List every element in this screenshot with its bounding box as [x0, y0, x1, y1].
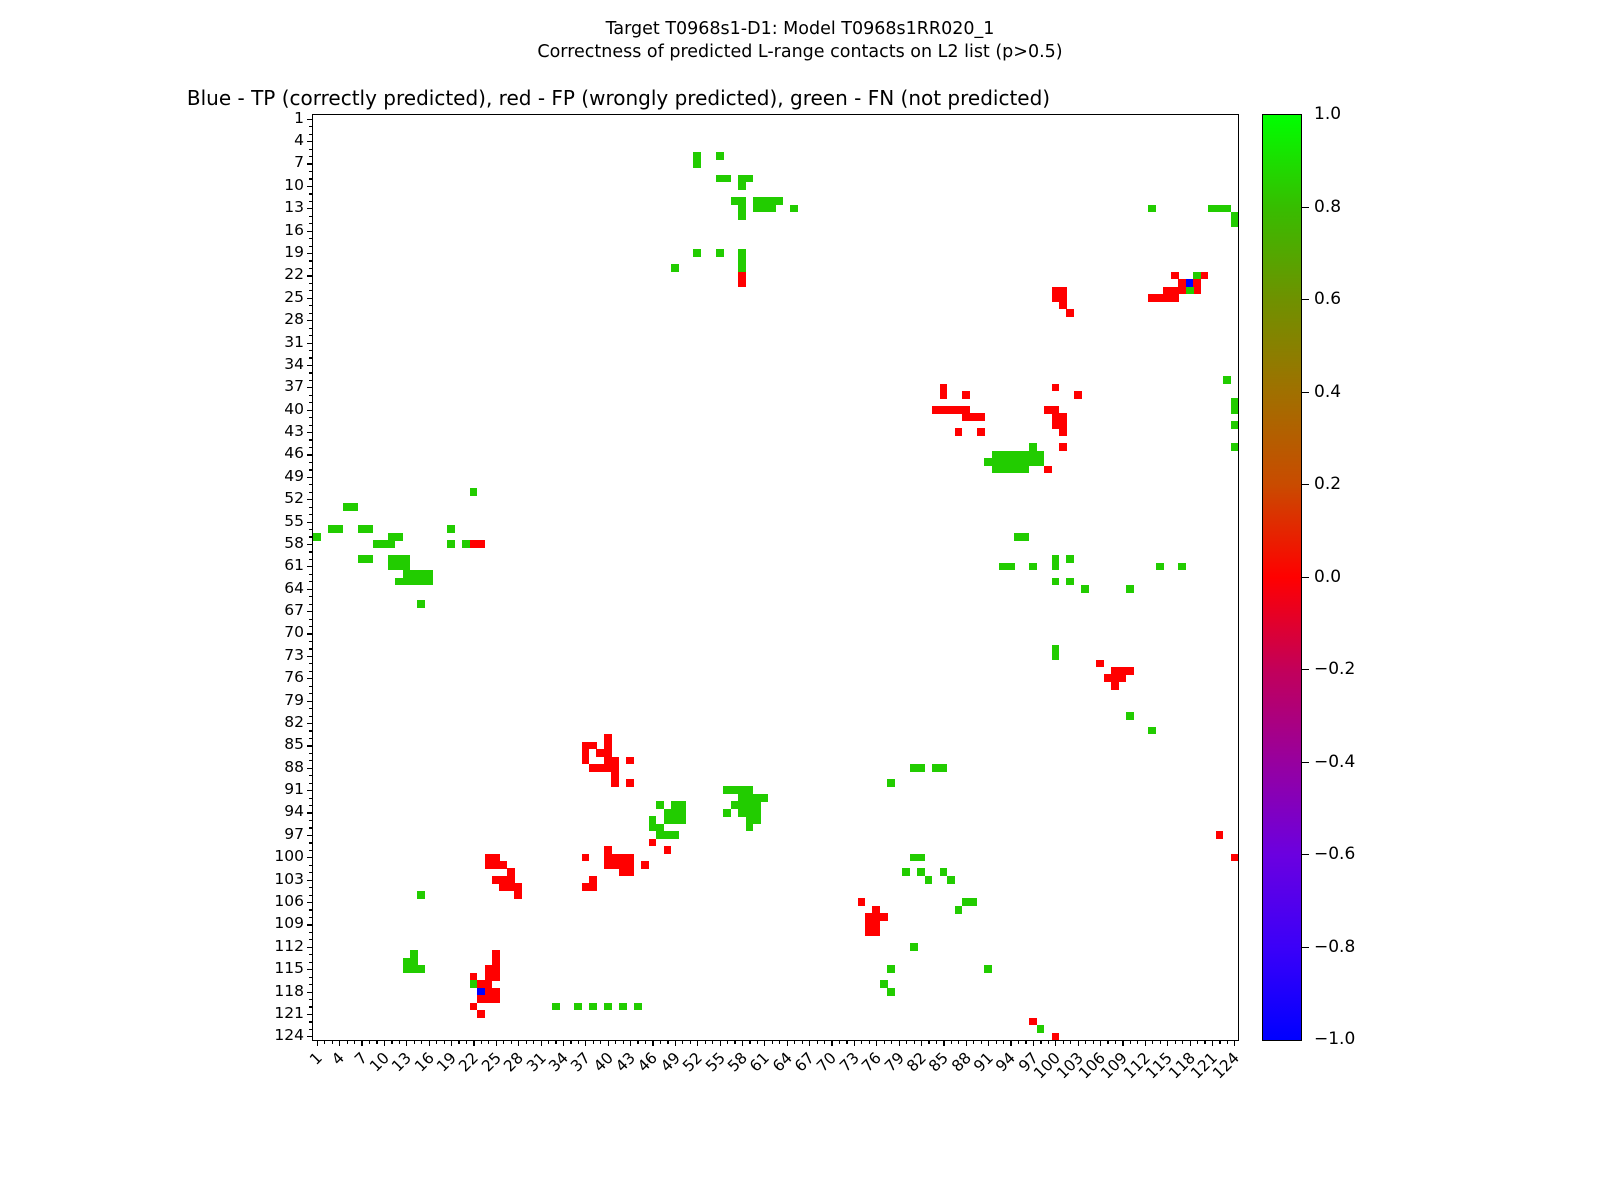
y-axis-tick-minor: [309, 417, 313, 418]
contact-cell: [716, 249, 724, 257]
y-axis-tick-label: 28: [284, 310, 304, 328]
contact-cell: [969, 898, 977, 906]
y-axis-tick-major: [307, 163, 313, 164]
y-axis-tick-label: 64: [284, 579, 304, 597]
contact-cell: [977, 428, 985, 436]
contact-cell: [1231, 219, 1239, 227]
y-axis-tick-major: [307, 343, 313, 344]
x-axis-tick-minor: [914, 1040, 915, 1044]
y-axis-tick-label: 40: [284, 400, 304, 418]
x-axis-tick-minor: [906, 1040, 907, 1044]
contact-cell: [492, 973, 500, 981]
y-axis-tick-major: [307, 924, 313, 925]
contact-cell: [1186, 287, 1194, 295]
x-axis-tick-minor: [623, 1040, 624, 1044]
y-axis-tick-minor: [309, 581, 313, 582]
y-axis-tick-minor: [309, 887, 313, 888]
contact-cell: [1059, 428, 1067, 436]
y-axis-tick-label: 124: [274, 1026, 304, 1044]
y-axis-tick-minor: [309, 909, 313, 910]
y-axis-tick-minor: [309, 193, 313, 194]
y-axis-tick-label: 16: [284, 221, 304, 239]
contact-cell: [977, 413, 985, 421]
y-axis-tick-major: [307, 790, 313, 791]
y-axis-tick-label: 31: [284, 333, 304, 351]
x-axis-tick-minor: [458, 1040, 459, 1044]
y-axis-tick-major: [307, 1036, 313, 1037]
contact-map-plot-area[interactable]: [312, 114, 1239, 1041]
y-axis-tick-minor: [309, 730, 313, 731]
x-axis-tick-minor: [555, 1040, 556, 1044]
contact-cell: [1193, 272, 1201, 280]
y-axis-tick-minor: [309, 238, 313, 239]
title-line-1: Target T0968s1-D1: Model T0968s1RR020_1: [0, 18, 1600, 41]
contact-cell: [693, 160, 701, 168]
y-axis-tick-label: 13: [284, 198, 304, 216]
y-axis-tick-minor: [309, 708, 313, 709]
x-axis-tick-minor: [1063, 1040, 1064, 1044]
x-axis-tick-minor: [936, 1040, 937, 1044]
contact-cell: [1126, 585, 1134, 593]
y-axis-tick-minor: [309, 865, 313, 866]
contact-cell: [649, 839, 657, 847]
y-axis-tick-minor: [309, 328, 313, 329]
y-axis-tick-minor: [309, 149, 313, 150]
y-axis-tick-label: 61: [284, 556, 304, 574]
y-axis-tick-label: 103: [274, 870, 304, 888]
contact-cell: [1223, 376, 1231, 384]
y-axis-tick-major: [307, 678, 313, 679]
y-axis-tick-major: [307, 633, 313, 634]
x-axis-tick-minor: [645, 1040, 646, 1044]
x-axis-tick-minor: [369, 1040, 370, 1044]
y-axis-tick-minor: [309, 559, 313, 560]
contact-cell: [1231, 406, 1239, 414]
contact-cell: [1178, 563, 1186, 571]
x-axis-tick-minor: [511, 1040, 512, 1044]
y-axis-tick-minor: [309, 895, 313, 896]
contact-cell: [388, 540, 396, 548]
x-axis-tick-minor: [414, 1040, 415, 1044]
y-axis-tick-minor: [309, 290, 313, 291]
x-axis-tick-minor: [1048, 1040, 1049, 1044]
y-axis-tick-label: 85: [284, 735, 304, 753]
x-axis-tick-minor: [1130, 1040, 1131, 1044]
y-axis-tick-major: [307, 454, 313, 455]
y-axis-tick-minor: [309, 447, 313, 448]
x-axis-tick-minor: [1152, 1040, 1153, 1044]
y-axis-tick-label: 25: [284, 288, 304, 306]
y-axis-tick-minor: [309, 962, 313, 963]
contact-cell: [1081, 585, 1089, 593]
x-axis-tick-minor: [1003, 1040, 1004, 1044]
y-axis-tick-minor: [309, 529, 313, 530]
contact-cell: [1007, 563, 1015, 571]
colorbar-tick: [1302, 207, 1309, 208]
contact-cell: [477, 1010, 485, 1018]
colorbar-tick: [1302, 392, 1309, 393]
y-axis-tick-major: [307, 723, 313, 724]
y-axis-tick-minor: [309, 574, 313, 575]
colorbar-tick-label: −0.6: [1314, 844, 1355, 864]
y-axis-tick-minor: [309, 350, 313, 351]
contact-cell: [887, 965, 895, 973]
colorbar-tick-label: −0.8: [1314, 937, 1355, 957]
figure-title: Target T0968s1-D1: Model T0968s1RR020_1 …: [0, 18, 1600, 64]
contact-cell: [596, 749, 604, 757]
x-axis-tick-minor: [332, 1040, 333, 1044]
contact-cell: [664, 846, 672, 854]
y-axis-tick-minor: [309, 954, 313, 955]
x-axis-tick-minor: [1227, 1040, 1228, 1044]
y-axis-tick-minor: [309, 805, 313, 806]
y-axis-tick-minor: [309, 1021, 313, 1022]
contact-cell: [910, 943, 918, 951]
contact-cell: [1066, 309, 1074, 317]
contact-cell: [395, 533, 403, 541]
y-axis-tick-minor: [309, 469, 313, 470]
x-axis-tick-minor: [817, 1040, 818, 1044]
y-axis-tick-label: 67: [284, 601, 304, 619]
contact-cell: [1074, 391, 1082, 399]
y-axis-tick-major: [307, 589, 313, 590]
y-axis-tick-label: 94: [284, 802, 304, 820]
contact-cell: [940, 764, 948, 772]
contact-cell: [858, 898, 866, 906]
contact-cell: [611, 757, 619, 765]
colorbar-tick-label: 1.0: [1314, 104, 1341, 124]
x-axis-tick-minor: [667, 1040, 668, 1044]
x-axis-tick-minor: [951, 1040, 952, 1044]
y-axis-tick-label: 88: [284, 758, 304, 776]
x-axis-tick-minor: [548, 1040, 549, 1044]
y-axis-tick-major: [307, 566, 313, 567]
contact-cell: [514, 891, 522, 899]
contact-cell: [417, 600, 425, 608]
y-axis-tick-major: [307, 880, 313, 881]
y-axis-tick-label: 34: [284, 355, 304, 373]
x-axis-tick-minor: [1204, 1040, 1205, 1044]
contact-cell: [641, 861, 649, 869]
y-axis-labels: 1471013161922252831343740434649525558616…: [236, 114, 304, 1039]
contact-cell: [947, 876, 955, 884]
y-axis-tick-minor: [309, 492, 313, 493]
contact-cell: [753, 816, 761, 824]
x-axis-tick-minor: [324, 1040, 325, 1044]
contact-cell: [425, 578, 433, 586]
colorbar-tick: [1302, 299, 1309, 300]
y-axis-tick-label: 10: [284, 176, 304, 194]
contact-cell: [738, 212, 746, 220]
contact-cell: [552, 1003, 560, 1011]
y-axis-tick-major: [307, 231, 313, 232]
y-axis-tick-major: [307, 522, 313, 523]
y-axis-tick-major: [307, 410, 313, 411]
y-axis-tick-label: 37: [284, 377, 304, 395]
y-axis-tick-minor: [309, 357, 313, 358]
contact-cell: [1231, 854, 1239, 862]
contact-cell: [626, 757, 634, 765]
contact-cell: [955, 428, 963, 436]
contact-cell: [417, 891, 425, 899]
contact-cell: [1171, 294, 1179, 302]
y-axis-tick-minor: [309, 716, 313, 717]
y-axis-tick-label: 43: [284, 422, 304, 440]
y-axis-tick-minor: [309, 663, 313, 664]
contact-cell: [1052, 563, 1060, 571]
y-axis-tick-minor: [309, 156, 313, 157]
contact-cell: [417, 965, 425, 973]
y-axis-tick-minor: [309, 798, 313, 799]
x-axis-tick-minor: [757, 1040, 758, 1044]
y-axis-tick-label: 7: [294, 153, 304, 171]
y-axis-tick-label: 91: [284, 780, 304, 798]
x-axis-tick-minor: [533, 1040, 534, 1044]
y-axis-tick-minor: [309, 1029, 313, 1030]
x-axis-tick-minor: [376, 1040, 377, 1044]
x-axis-tick-minor: [391, 1040, 392, 1044]
contact-cell: [746, 175, 754, 183]
colorbar-tick: [1302, 577, 1309, 578]
x-axis-tick-minor: [660, 1040, 661, 1044]
y-axis-tick-minor: [309, 335, 313, 336]
x-axis-tick-minor: [846, 1040, 847, 1044]
contact-cell: [634, 1003, 642, 1011]
x-axis-tick-minor: [1070, 1040, 1071, 1044]
contact-cell: [582, 757, 590, 765]
colorbar-tick-label: 0.2: [1314, 474, 1341, 494]
y-axis-tick-minor: [309, 380, 313, 381]
y-axis-tick-major: [307, 298, 313, 299]
x-axis-tick-minor: [690, 1040, 691, 1044]
y-axis-tick-label: 52: [284, 489, 304, 507]
y-axis-tick-minor: [309, 1006, 313, 1007]
contact-cell: [1029, 563, 1037, 571]
x-axis-tick-minor: [1160, 1040, 1161, 1044]
x-axis-tick-minor: [481, 1040, 482, 1044]
y-axis-tick-label: 22: [284, 265, 304, 283]
y-axis-tick-minor: [309, 686, 313, 687]
y-axis-tick-minor: [309, 536, 313, 537]
contact-cell: [679, 816, 687, 824]
y-axis-tick-minor: [309, 753, 313, 754]
y-axis-tick-label: 82: [284, 713, 304, 731]
y-axis-tick-minor: [309, 268, 313, 269]
y-axis-tick-label: 55: [284, 512, 304, 530]
y-axis-tick-minor: [309, 178, 313, 179]
y-axis-tick-minor: [309, 596, 313, 597]
y-axis-tick-major: [307, 186, 313, 187]
contact-cell: [1231, 421, 1239, 429]
y-axis-tick-major: [307, 745, 313, 746]
contact-cell: [574, 1003, 582, 1011]
y-axis-tick-minor: [309, 648, 313, 649]
contact-cell: [917, 764, 925, 772]
contact-cell: [925, 876, 933, 884]
y-axis-tick-minor: [309, 134, 313, 135]
y-axis-tick-label: 1: [294, 109, 304, 127]
y-axis-tick-label: 106: [274, 892, 304, 910]
x-axis-tick-minor: [973, 1040, 974, 1044]
colorbar-tick: [1302, 947, 1309, 948]
x-axis-tick-minor: [436, 1040, 437, 1044]
y-axis-tick-major: [307, 812, 313, 813]
y-axis-tick-label: 100: [274, 847, 304, 865]
colorbar-tick-label: 0.6: [1314, 289, 1341, 309]
y-axis-tick-minor: [309, 827, 313, 828]
y-axis-tick-label: 112: [274, 937, 304, 955]
x-axis-tick-minor: [1197, 1040, 1198, 1044]
x-axis-tick-minor: [772, 1040, 773, 1044]
contact-cell: [723, 175, 731, 183]
x-axis-tick-minor: [570, 1040, 571, 1044]
contact-cell: [738, 279, 746, 287]
x-axis-tick-minor: [734, 1040, 735, 1044]
y-axis-tick-major: [307, 253, 313, 254]
y-axis-tick-major: [307, 969, 313, 970]
y-axis-tick-major: [307, 477, 313, 478]
x-axis-tick-minor: [1175, 1040, 1176, 1044]
y-axis-tick-minor: [309, 395, 313, 396]
contact-cell: [656, 824, 664, 832]
y-axis-tick-minor: [309, 820, 313, 821]
y-axis-tick-label: 79: [284, 691, 304, 709]
y-axis-tick-major: [307, 947, 313, 948]
y-axis-tick-minor: [309, 507, 313, 508]
contact-cell: [447, 540, 455, 548]
y-axis-tick-minor: [309, 738, 313, 739]
x-axis-tick-minor: [1137, 1040, 1138, 1044]
x-axis-tick-minor: [891, 1040, 892, 1044]
colorbar-tick-label: 0.8: [1314, 197, 1341, 217]
contact-cell: [313, 533, 321, 541]
contact-cell: [746, 824, 754, 832]
contact-cell: [872, 928, 880, 936]
y-axis-tick-label: 118: [274, 982, 304, 1000]
y-axis-tick-major: [307, 365, 313, 366]
y-axis-tick-minor: [309, 514, 313, 515]
y-axis-tick-minor: [309, 551, 313, 552]
y-axis-tick-minor: [309, 939, 313, 940]
x-axis-tick-minor: [996, 1040, 997, 1044]
x-axis-tick-minor: [682, 1040, 683, 1044]
contact-cell: [1052, 384, 1060, 392]
x-axis-tick-minor: [399, 1040, 400, 1044]
y-axis-tick-label: 46: [284, 444, 304, 462]
x-axis-tick-minor: [1085, 1040, 1086, 1044]
contact-cell: [902, 868, 910, 876]
contact-cell: [447, 525, 455, 533]
y-axis-tick-minor: [309, 439, 313, 440]
contact-cell: [887, 779, 895, 787]
contact-cell: [1059, 443, 1067, 451]
y-axis-tick-major: [307, 387, 313, 388]
contact-cell: [761, 794, 769, 802]
y-axis-tick-minor: [309, 283, 313, 284]
x-axis-tick-minor: [794, 1040, 795, 1044]
contact-cell: [626, 868, 634, 876]
y-axis-tick-minor: [309, 641, 313, 642]
x-axis-tick-minor: [637, 1040, 638, 1044]
contact-cell: [1126, 712, 1134, 720]
y-axis-tick-minor: [309, 619, 313, 620]
y-axis-tick-minor: [309, 484, 313, 485]
y-axis-tick-minor: [309, 305, 313, 306]
contact-cell: [626, 854, 634, 862]
x-axis-tick-minor: [884, 1040, 885, 1044]
contact-cell: [350, 503, 358, 511]
contact-cell: [1052, 578, 1060, 586]
contact-cell: [1216, 831, 1224, 839]
contact-cell: [1148, 727, 1156, 735]
contact-cell: [626, 779, 634, 787]
contact-cell: [880, 913, 888, 921]
contact-cell: [589, 883, 597, 891]
contact-cell: [940, 391, 948, 399]
y-axis-tick-minor: [309, 425, 313, 426]
contact-cell: [1037, 451, 1045, 459]
y-axis-tick-label: 4: [294, 131, 304, 149]
y-axis-tick-label: 73: [284, 646, 304, 664]
contact-cell: [723, 809, 731, 817]
contact-cell: [693, 249, 701, 257]
contact-cell: [477, 540, 485, 548]
contact-cell: [589, 1003, 597, 1011]
x-axis-tick-minor: [600, 1040, 601, 1044]
y-axis-tick-minor: [309, 216, 313, 217]
y-axis-tick-minor: [309, 850, 313, 851]
y-axis-tick-label: 19: [284, 243, 304, 261]
contact-cell: [716, 152, 724, 160]
contact-cell: [887, 988, 895, 996]
y-axis-tick-minor: [309, 760, 313, 761]
x-axis-tick-minor: [421, 1040, 422, 1044]
y-axis-tick-label: 49: [284, 467, 304, 485]
colorbar-tick: [1302, 854, 1309, 855]
y-axis-tick-minor: [309, 171, 313, 172]
y-axis-tick-minor: [309, 984, 313, 985]
color-legend-text: Blue - TP (correctly predicted), red - F…: [0, 86, 1237, 110]
contact-cell: [335, 525, 343, 533]
contact-cell: [365, 555, 373, 563]
y-axis-tick-minor: [309, 402, 313, 403]
x-axis-tick-minor: [444, 1040, 445, 1044]
contact-cell: [1126, 667, 1134, 675]
y-axis-tick-label: 121: [274, 1004, 304, 1022]
contact-cell: [1052, 652, 1060, 660]
contact-cell: [604, 861, 612, 869]
x-axis-tick-minor: [615, 1040, 616, 1044]
y-axis-tick-major: [307, 768, 313, 769]
x-axis-tick-minor: [1018, 1040, 1019, 1044]
x-axis-tick-minor: [1093, 1040, 1094, 1044]
x-axis-tick-minor: [1107, 1040, 1108, 1044]
y-axis-tick-major: [307, 208, 313, 209]
y-axis-tick-major: [307, 857, 313, 858]
x-axis-tick-minor: [466, 1040, 467, 1044]
y-axis-tick-minor: [309, 372, 313, 373]
x-axis-tick-minor: [1182, 1040, 1183, 1044]
y-axis-tick-minor: [309, 693, 313, 694]
contact-cell: [1111, 682, 1119, 690]
y-axis-tick-minor: [309, 872, 313, 873]
contact-cell: [365, 525, 373, 533]
y-axis-tick-minor: [309, 842, 313, 843]
contact-cell: [1119, 674, 1127, 682]
contact-cell: [768, 205, 776, 213]
contact-cell: [738, 182, 746, 190]
colorbar-tick: [1302, 669, 1309, 670]
